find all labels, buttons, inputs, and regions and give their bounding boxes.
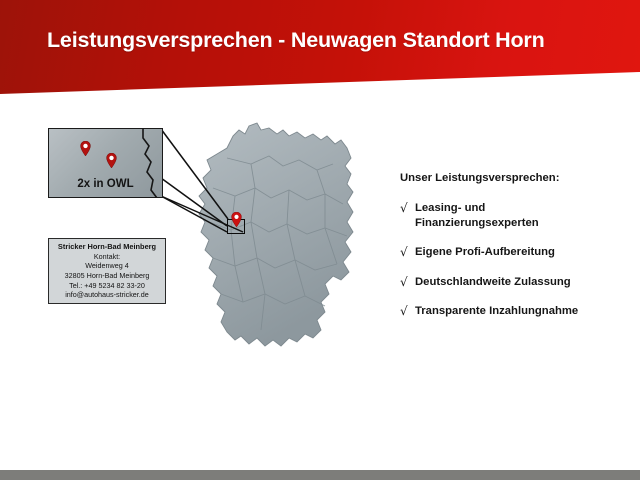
owl-pin-1-icon — [80, 141, 91, 156]
check-icon: √ — [400, 275, 415, 289]
promise-item-4-text: Transparente Inzahlungnahme — [415, 304, 578, 319]
promises-title: Unser Leistungsversprechen: — [400, 172, 625, 184]
promise-item-1-text: Leasing- und Finanzierungsexperten — [415, 201, 539, 230]
germany-map — [165, 118, 380, 383]
check-icon: √ — [400, 201, 415, 215]
promise-item-1-line-1: Leasing- und — [415, 201, 539, 216]
page-title: Leistungsversprechen - Neuwagen Standort… — [47, 28, 545, 53]
promise-item-3-text: Deutschlandweite Zulassung — [415, 275, 571, 290]
check-icon: √ — [400, 304, 415, 318]
address-box: Stricker Horn-Bad Meinberg Kontakt: Weid… — [48, 238, 166, 304]
bottom-bar — [0, 470, 640, 480]
address-line-phone: Tel.: +49 5234 82 33-20 — [69, 281, 145, 291]
logo-row: Horn Nutzfahrzeuge SKODA Service — [0, 404, 640, 466]
promise-item-2: √ Eigene Profi-Aufbereitung — [400, 245, 625, 260]
slide: Leistungsversprechen - Neuwagen Standort… — [0, 0, 640, 480]
promise-item-4: √ Transparente Inzahlungnahme — [400, 304, 625, 319]
owl-inset-label: 2x in OWL — [49, 178, 162, 190]
address-line-name: Stricker Horn-Bad Meinberg — [58, 242, 156, 252]
promises-list: Unser Leistungsversprechen: √ Leasing- u… — [400, 172, 625, 334]
promise-item-3: √ Deutschlandweite Zulassung — [400, 275, 625, 290]
owl-pin-2-icon — [106, 153, 117, 168]
promise-item-1-line-2: Finanzierungsexperten — [415, 216, 539, 231]
check-icon: √ — [400, 245, 415, 259]
owl-inset-box: 2x in OWL — [48, 128, 163, 198]
promise-item-1: √ Leasing- und Finanzierungsexperten — [400, 201, 625, 230]
address-line-email: info@autohaus-stricker.de — [65, 290, 149, 300]
germany-map-svg — [165, 118, 380, 383]
header-banner: Leistungsversprechen - Neuwagen Standort… — [0, 0, 640, 100]
address-line-kontakt: Kontakt: — [94, 252, 120, 262]
address-line-city: 32805 Horn-Bad Meinberg — [65, 271, 150, 281]
address-line-street: Weidenweg 4 — [85, 261, 128, 271]
promise-item-2-text: Eigene Profi-Aufbereitung — [415, 245, 555, 260]
map-pin-icon — [231, 212, 242, 227]
